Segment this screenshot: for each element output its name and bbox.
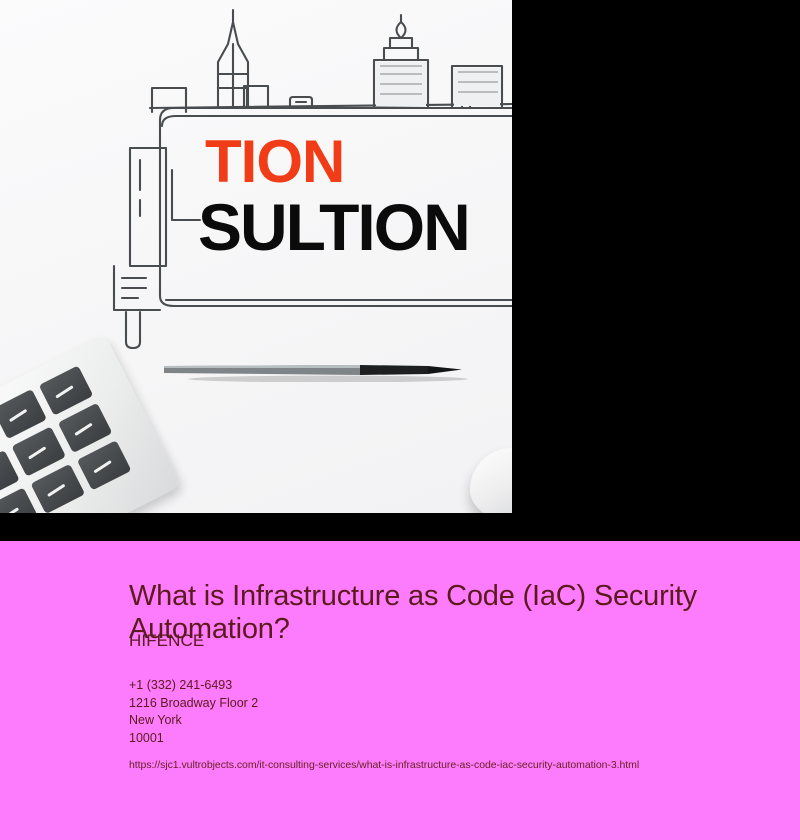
contact-postal-code: 10001 [129,730,258,748]
hero-headline-accent: TION [205,134,344,190]
contact-details: +1 (332) 241-6493 1216 Broadway Floor 2 … [129,677,258,747]
article-hero-image: TION SULTION [0,0,512,513]
contact-city: New York [129,712,258,730]
source-url-link[interactable]: https://sjc1.vultrobjects.com/it-consult… [129,759,639,771]
contact-street: 1216 Broadway Floor 2 [129,695,258,713]
page-title: What is Infrastructure as Code (IaC) Sec… [129,580,729,646]
stylus-pen-icon [160,360,475,382]
hero-headline-main: SULTION [198,196,469,258]
contact-phone[interactable]: +1 (332) 241-6493 [129,677,258,695]
article-info-panel: What is Infrastructure as Code (IaC) Sec… [0,541,800,840]
hero-media-band: TION SULTION [0,0,800,541]
brand-name: HIFENCE [129,631,204,651]
